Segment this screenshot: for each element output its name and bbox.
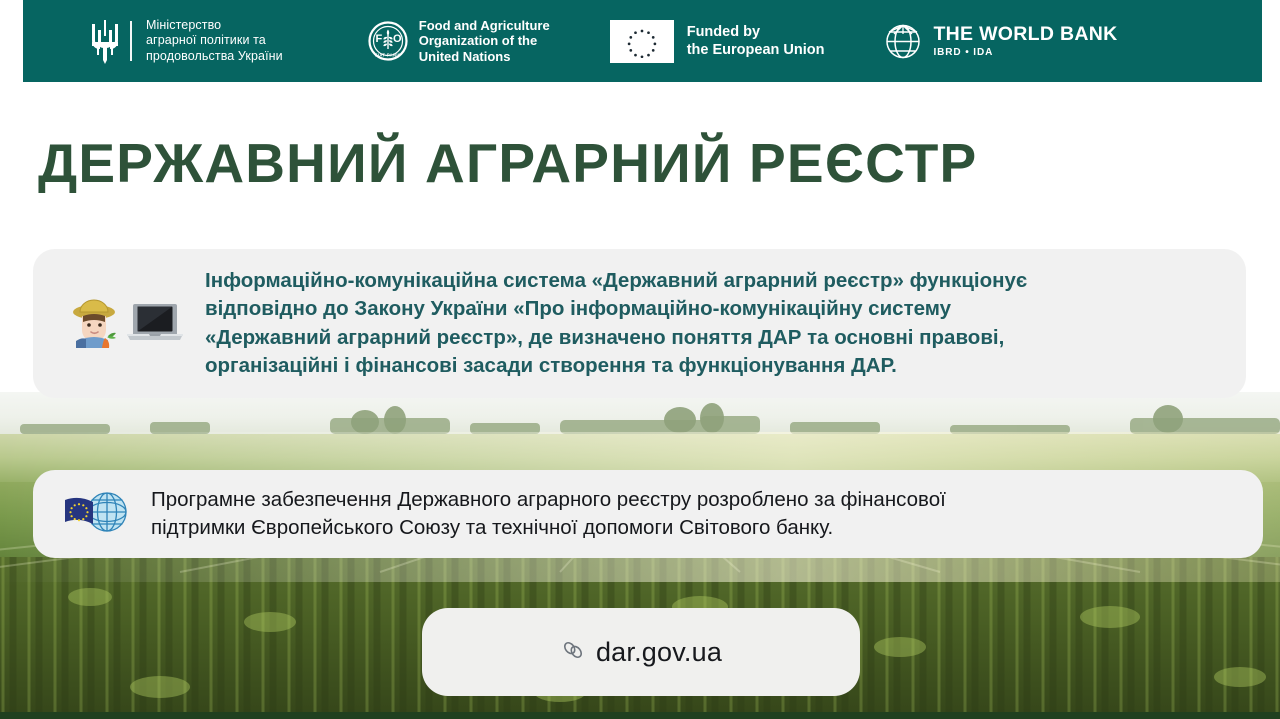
page-root: Міністерство аграрної політики та продов… [0, 0, 1280, 719]
woman-farmer-emoji [67, 294, 121, 353]
laptop-emoji [123, 294, 187, 353]
funding-card-icons [61, 488, 133, 541]
svg-text:O: O [393, 33, 402, 45]
ministry-label: Міністерство аграрної політики та продов… [146, 18, 283, 65]
funding-card: Програмне забезпечення Державного аграрн… [33, 470, 1263, 558]
ukraine-trident-icon [88, 18, 122, 64]
funding-card-text: Програмне забезпечення Державного аграрн… [151, 486, 946, 542]
eu-stars-flag-icon [610, 20, 674, 63]
world-bank-title: THE WORLD BANK [933, 23, 1117, 45]
link-chain-emoji [560, 637, 586, 668]
logo-european-union: Funded by the European Union [610, 20, 825, 63]
eu-funding-label: Funded by the European Union [687, 23, 825, 59]
world-bank-subtitle: IBRD • IDA [933, 46, 1117, 59]
logo-fao: F O FIAT PANIS Food and Agricult [368, 18, 550, 65]
website-url-label: dar.gov.ua [596, 637, 722, 668]
svg-text:F: F [375, 33, 382, 45]
partner-logos-header: Міністерство аграрної політики та продов… [23, 0, 1262, 82]
website-link-button[interactable]: dar.gov.ua [422, 608, 860, 696]
page-title: ДЕРЖАВНИЙ АГРАРНИЙ РЕЄСТР [38, 132, 977, 194]
eu-flag-globe-emoji [61, 488, 133, 541]
fao-emblem-icon: F O FIAT PANIS [368, 21, 408, 61]
logo-world-bank: THE WORLD BANK IBRD • IDA [882, 20, 1117, 62]
law-basis-card-text: Інформаційно-комунікаційна система «Держ… [205, 267, 1027, 381]
logo-divider [130, 21, 132, 61]
logo-ministry-of-agrarian-policy: Міністерство аграрної політики та продов… [88, 18, 283, 65]
world-bank-label-group: THE WORLD BANK IBRD • IDA [933, 24, 1117, 59]
law-basis-card-icons [67, 294, 187, 353]
law-basis-card: Інформаційно-комунікаційна система «Держ… [33, 249, 1246, 398]
fao-label: Food and Agriculture Organization of the… [419, 18, 550, 65]
world-bank-globe-icon [882, 20, 924, 62]
svg-text:FIAT PANIS: FIAT PANIS [375, 53, 401, 58]
bottom-accent-strip [0, 712, 1280, 719]
